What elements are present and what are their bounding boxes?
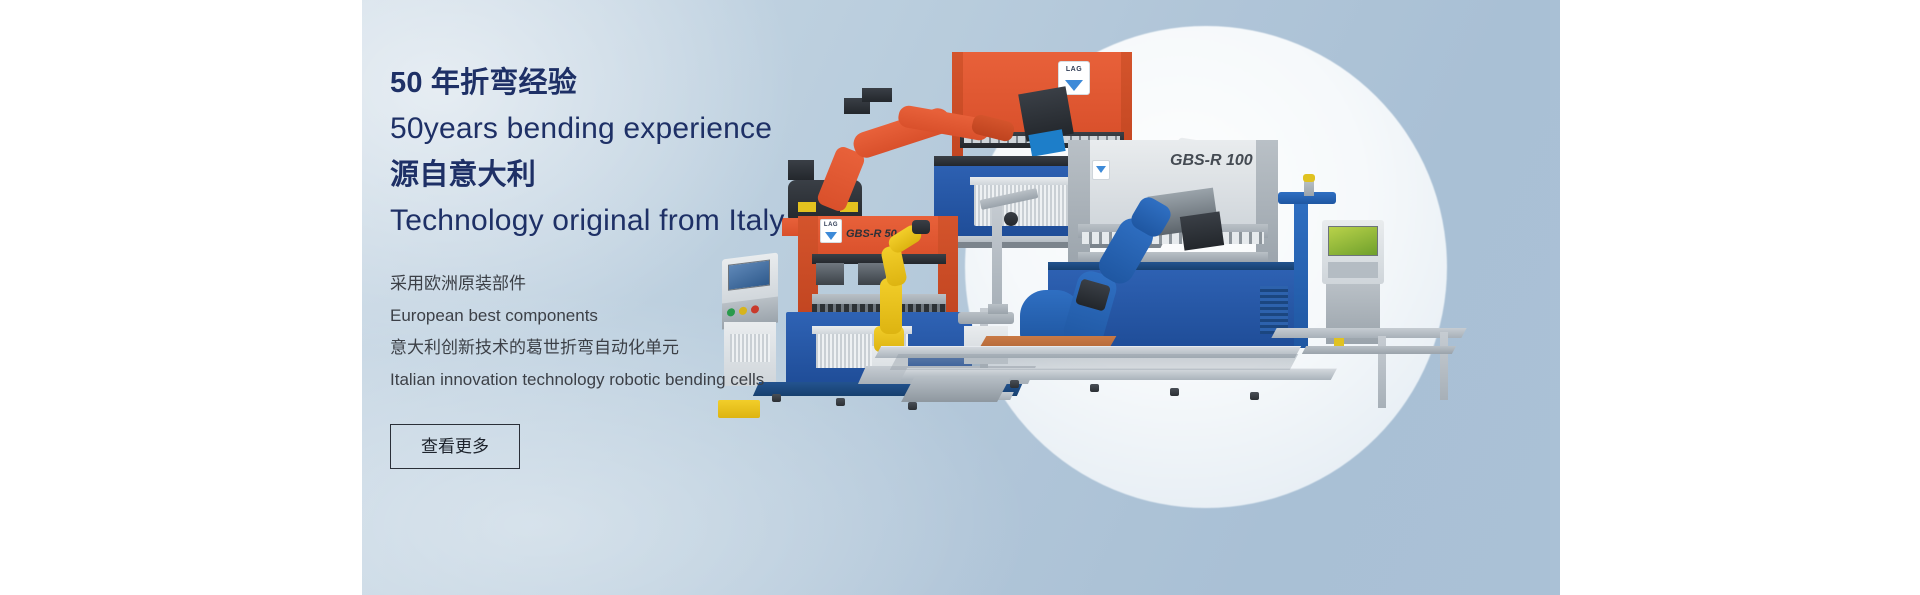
gbs100-rail-foot-2 (1010, 380, 1019, 388)
gbs100-control-screen (1328, 226, 1378, 256)
chevron-logo-icon (1065, 80, 1083, 91)
gbs100-rail-web (890, 354, 1299, 370)
headline-years-number: 50 (390, 67, 423, 99)
view-more-button[interactable]: 查看更多 (390, 424, 520, 469)
headline-line-cn-1: 50 年折弯经验 (390, 60, 950, 106)
model-label-gbs100: GBS-R 100 (1170, 152, 1253, 170)
gbs100-control-panel (1322, 220, 1384, 284)
headline-line-en-2: Technology original from Italy (390, 198, 950, 244)
machine-right-cell: GBS-R 100 (974, 140, 1474, 430)
gbs100-gantry-column (992, 200, 1002, 310)
gbs100-tower-post (1304, 180, 1314, 196)
subtext-line-1: 采用欧洲原装部件 (390, 268, 950, 300)
hero-banner: LAG (362, 0, 1560, 595)
gbs100-outfeed-table (1271, 328, 1466, 338)
headline-line-cn-2: 源自意大利 (390, 152, 950, 198)
banner-subtext: 采用欧洲原装部件 European best components 意大利创新技… (390, 268, 950, 396)
lag-logo-gbs100 (1092, 160, 1110, 180)
gbs100-beacon-light (1303, 174, 1315, 182)
lag-logo-text: LAG (1066, 66, 1082, 73)
gbs100-control-keypad (1328, 262, 1378, 278)
gbs100-body-vent (1260, 286, 1288, 334)
gbs100-gripper-head (1180, 211, 1224, 250)
subtext-line-2: European best components (390, 300, 950, 332)
banner-copy: 50 年折弯经验 50years bending experience 源自意大… (390, 60, 950, 469)
headline-line-en-1: 50years bending experience (390, 106, 950, 152)
subtext-line-4: Italian innovation technology robotic be… (390, 364, 950, 396)
gbs100-gantry-foot (988, 304, 1008, 314)
headline-years-text: 年折弯经验 (423, 67, 577, 99)
gbs100-tower-column (1294, 198, 1308, 348)
gbs100-outfeed-stringer (1302, 346, 1456, 354)
chevron-logo-icon (1096, 166, 1106, 173)
gbs100-gantry-joint (1004, 212, 1018, 226)
gbs100-rail-foot-3 (1090, 384, 1099, 392)
gbs100-gantry-arm (980, 188, 1039, 210)
gbs100-outfeed-leg-2 (1440, 332, 1448, 400)
subtext-line-3: 意大利创新技术的葛世折弯自动化单元 (390, 332, 950, 364)
gbs100-rail-foot-5 (1250, 392, 1259, 400)
gbs100-rail-foot-4 (1170, 388, 1179, 396)
gbs100-body-lip (1048, 262, 1296, 270)
